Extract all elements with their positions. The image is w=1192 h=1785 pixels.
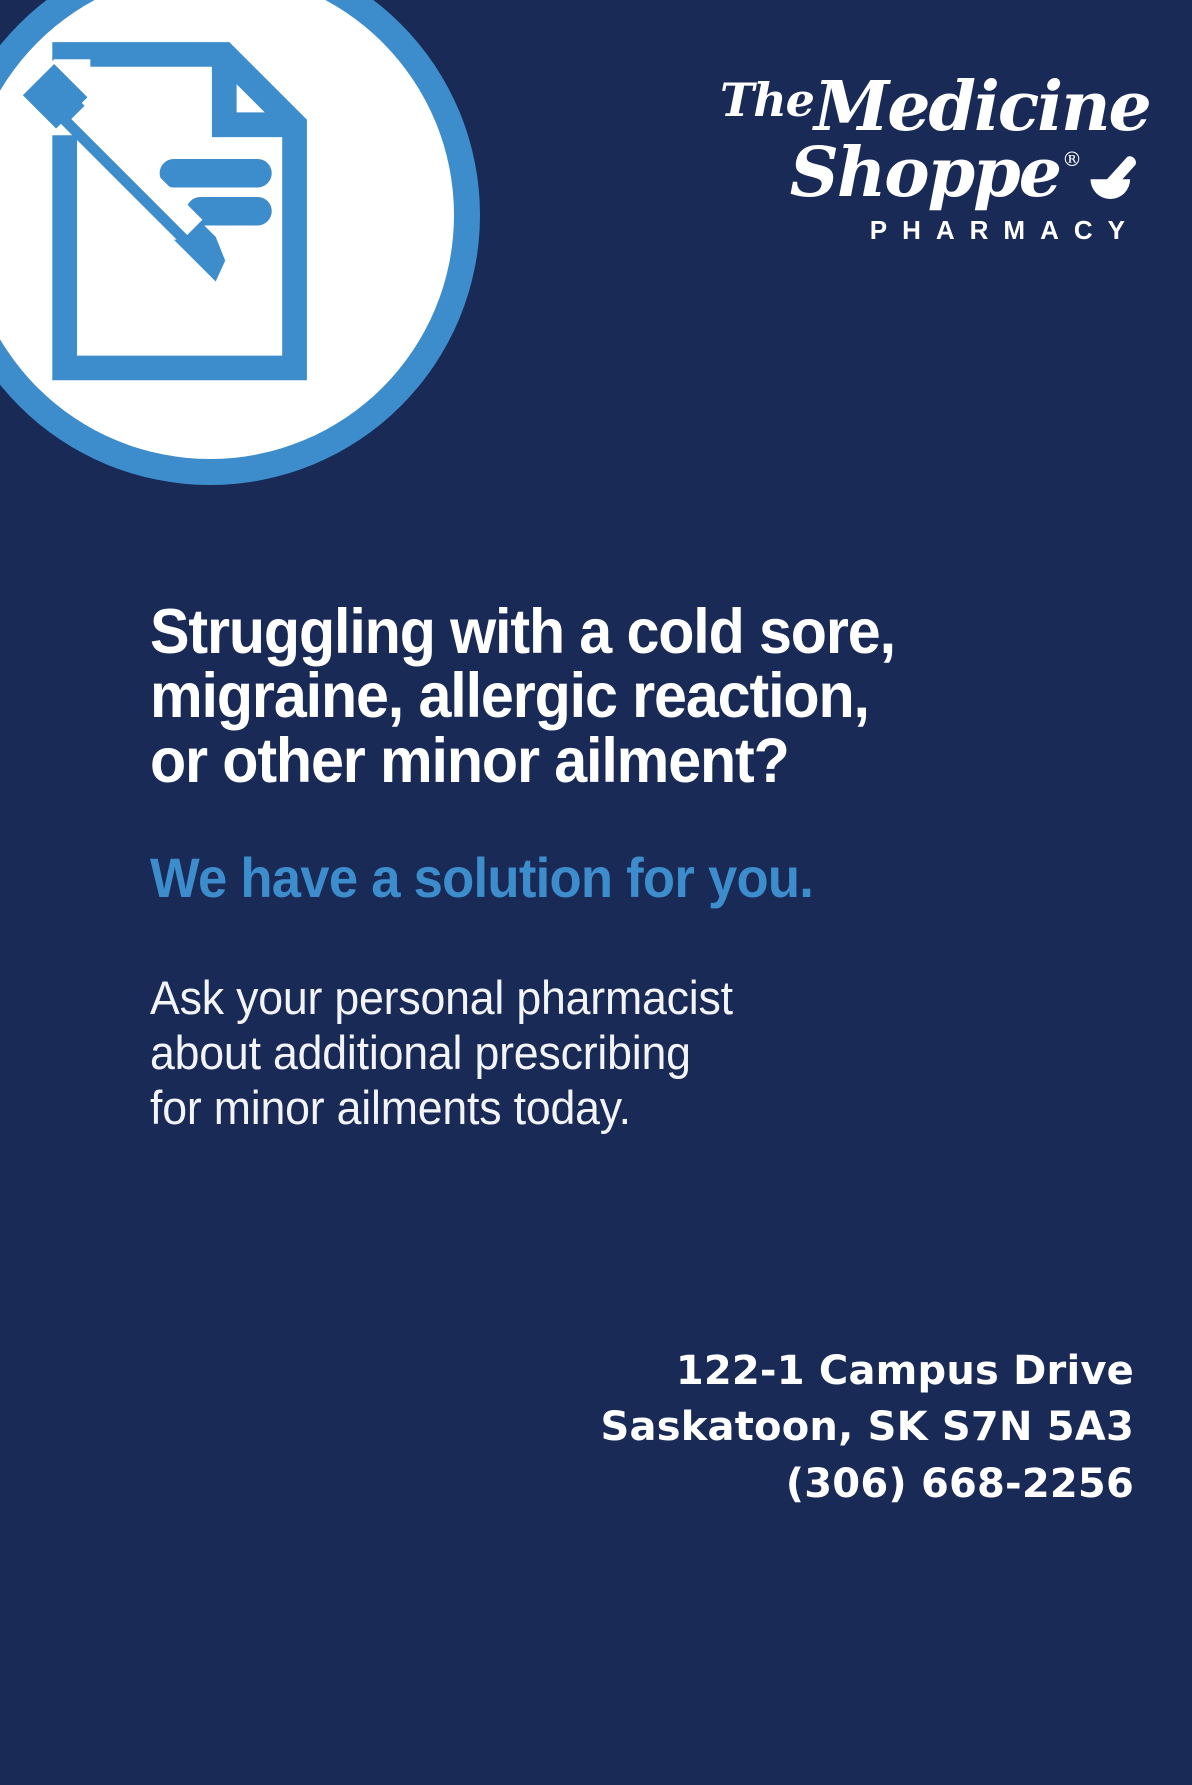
body-line-3: for minor ailments today.: [150, 1080, 1064, 1135]
headline-line-1: Struggling with a cold sore,: [150, 600, 1054, 664]
pharmacy-poster: TheMedicine Shoppe® PHARMACY Struggling …: [0, 0, 1192, 1785]
body-line-2: about additional prescribing: [150, 1025, 1064, 1080]
headline-line-3: or other minor ailment?: [150, 729, 1054, 793]
brand-logo: TheMedicine Shoppe® PHARMACY: [720, 76, 1140, 246]
phone-number[interactable]: (306) 668-2256: [601, 1456, 1134, 1513]
address-city-province-postal: Saskatoon, SK S7N 5A3: [601, 1399, 1134, 1456]
address-street: 122-1 Campus Drive: [601, 1343, 1134, 1400]
body-line-1: Ask your personal pharmacist: [150, 970, 1064, 1025]
document-with-pencil-icon: [12, 21, 392, 401]
badge: [0, 0, 480, 485]
body-copy: Ask your personal pharmacist about addit…: [150, 970, 1064, 1136]
headline-line-2: migraine, allergic reaction,: [150, 664, 1054, 728]
subheadline: We have a solution for you.: [150, 849, 1054, 908]
logo-the: The: [720, 73, 814, 127]
address-block: 122-1 Campus Drive Saskatoon, SK S7N 5A3…: [601, 1343, 1134, 1513]
headline: Struggling with a cold sore, migraine, a…: [150, 600, 1054, 793]
copy-block: Struggling with a cold sore, migraine, a…: [150, 600, 1112, 1136]
registered-mark-icon: ®: [1062, 147, 1080, 171]
logo-line-medicine: TheMedicine: [720, 76, 1140, 139]
mortar-and-pestle-icon: [1086, 154, 1140, 208]
logo-tagline: PHARMACY: [720, 215, 1140, 246]
logo-line-shoppe: Shoppe®: [720, 141, 1140, 206]
logo-shoppe: Shoppe: [790, 133, 1060, 213]
